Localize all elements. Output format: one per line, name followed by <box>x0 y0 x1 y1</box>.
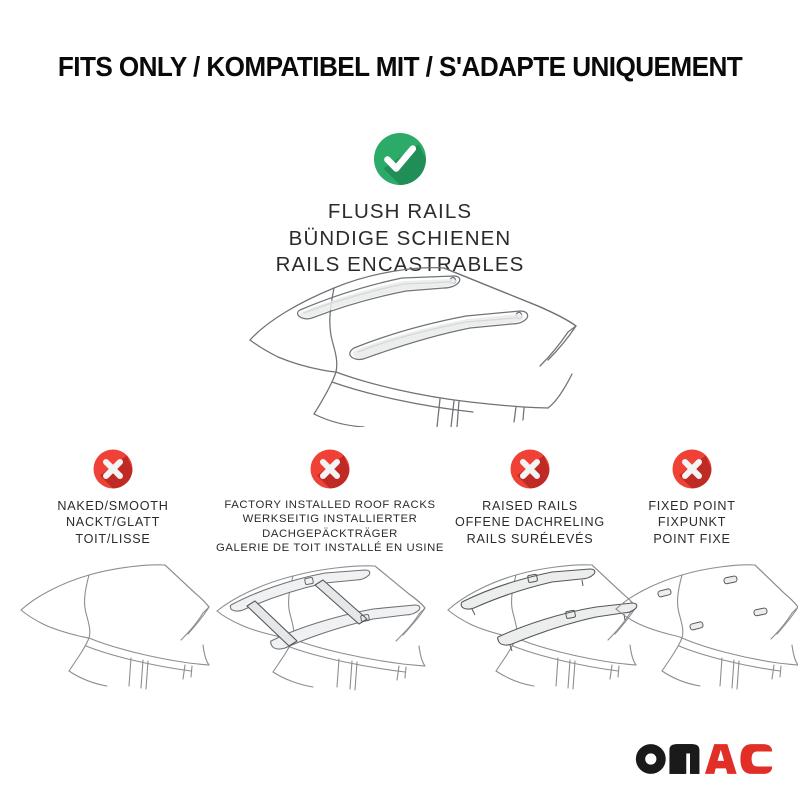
caption-line-fr: TOIT/LISSE <box>13 531 213 547</box>
compatibility-infographic: FITS ONLY / KOMPATIBEL MIT / S'ADAPTE UN… <box>0 0 800 800</box>
page-title: FITS ONLY / KOMPATIBEL MIT / S'ADAPTE UN… <box>20 52 780 82</box>
caption-line-en: FACTORY INSTALLED ROOF RACKS <box>205 498 455 512</box>
caption-line-en: RAISED RAILS <box>440 498 620 514</box>
caption-line-en: FIXED POINT <box>608 498 776 514</box>
header: FITS ONLY / KOMPATIBEL MIT / S'ADAPTE UN… <box>0 52 800 82</box>
caption-line-fr: POINT FIXE <box>608 531 776 547</box>
caption-line-de: OFFENE DACHRELING <box>440 514 620 530</box>
caption-factory-racks: FACTORY INSTALLED ROOF RACKS WERKSEITIG … <box>205 498 455 556</box>
caption-line-de-2: DACHGEPÄCKTRÄGER <box>205 527 455 541</box>
car-roof-factory-racks-illustration <box>205 553 455 703</box>
caption-line-en: FLUSH RAILS <box>0 199 800 226</box>
omac-logo <box>634 742 774 776</box>
incompatible-item-fixed-point: FIXED POINT FIXPUNKT POINT FIXE <box>608 449 776 547</box>
x-circle-icon <box>310 449 350 489</box>
incompatible-section: NAKED/SMOOTH NACKT/GLATT TOIT/LISSE <box>0 449 800 729</box>
caption-line-fr: RAILS SURÉLEVÉS <box>440 531 620 547</box>
x-circle-icon <box>93 449 133 489</box>
car-roof-raised-rails-illustration <box>440 553 620 703</box>
caption-naked-smooth: NAKED/SMOOTH NACKT/GLATT TOIT/LISSE <box>13 498 213 547</box>
caption-fixed-point: FIXED POINT FIXPUNKT POINT FIXE <box>608 498 776 547</box>
check-circle-icon <box>373 132 427 186</box>
car-roof-naked-smooth-illustration <box>13 553 213 703</box>
caption-line-de: BÜNDIGE SCHIENEN <box>0 226 800 253</box>
incompatible-item-factory-racks: FACTORY INSTALLED ROOF RACKS WERKSEITIG … <box>205 449 455 556</box>
caption-line-de: FIXPUNKT <box>608 514 776 530</box>
caption-line-de: NACKT/GLATT <box>13 514 213 530</box>
caption-raised-rails: RAISED RAILS OFFENE DACHRELING RAILS SUR… <box>440 498 620 547</box>
incompatible-item-raised-rails: RAISED RAILS OFFENE DACHRELING RAILS SUR… <box>440 449 620 547</box>
x-circle-icon <box>672 449 712 489</box>
x-circle-icon <box>510 449 550 489</box>
incompatible-item-naked-smooth: NAKED/SMOOTH NACKT/GLATT TOIT/LISSE <box>13 449 213 547</box>
caption-line-de-1: WERKSEITIG INSTALLIERTER <box>205 512 455 526</box>
car-roof-flush-rails-illustration <box>238 262 598 427</box>
compatible-section: FLUSH RAILS BÜNDIGE SCHIENEN RAILS ENCAS… <box>0 132 800 279</box>
car-roof-fixed-point-illustration <box>608 553 776 703</box>
caption-line-en: NAKED/SMOOTH <box>13 498 213 514</box>
